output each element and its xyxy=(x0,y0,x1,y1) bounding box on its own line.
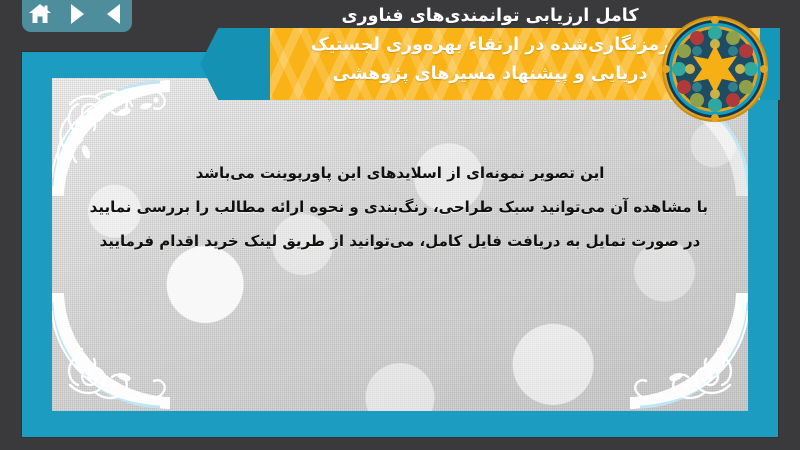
home-icon xyxy=(28,3,52,25)
forward-button[interactable] xyxy=(64,1,90,27)
arabesque-corner-bottom-left xyxy=(52,291,202,411)
slide-stage: کامل ارزیابی توانمندی‌های فناوری رمزنگار… xyxy=(0,0,800,450)
slide-body-text: این تصویر نمونه‌ای از اسلایدهای این پاور… xyxy=(52,156,748,258)
body-line-1: این تصویر نمونه‌ای از اسلایدهای این پاور… xyxy=(92,156,708,190)
body-line-2: با مشاهده آن می‌توانید سبک طراحی، رنگ‌بن… xyxy=(92,190,708,224)
home-button[interactable] xyxy=(27,1,53,27)
back-button[interactable] xyxy=(101,1,127,27)
triangle-right-icon xyxy=(71,4,84,24)
content-panel: این تصویر نمونه‌ای از اسلایدهای این پاور… xyxy=(52,78,748,411)
navigation-toolbar xyxy=(22,0,132,32)
islamic-medallion xyxy=(662,16,768,122)
arabesque-corner-bottom-right xyxy=(598,291,748,411)
body-line-3: در صورت تمایل به دریافت فایل کامل، می‌تو… xyxy=(92,224,708,258)
triangle-left-icon xyxy=(107,4,120,24)
title-ribbon: کامل ارزیابی توانمندی‌های فناوری رمزنگار… xyxy=(180,0,800,104)
